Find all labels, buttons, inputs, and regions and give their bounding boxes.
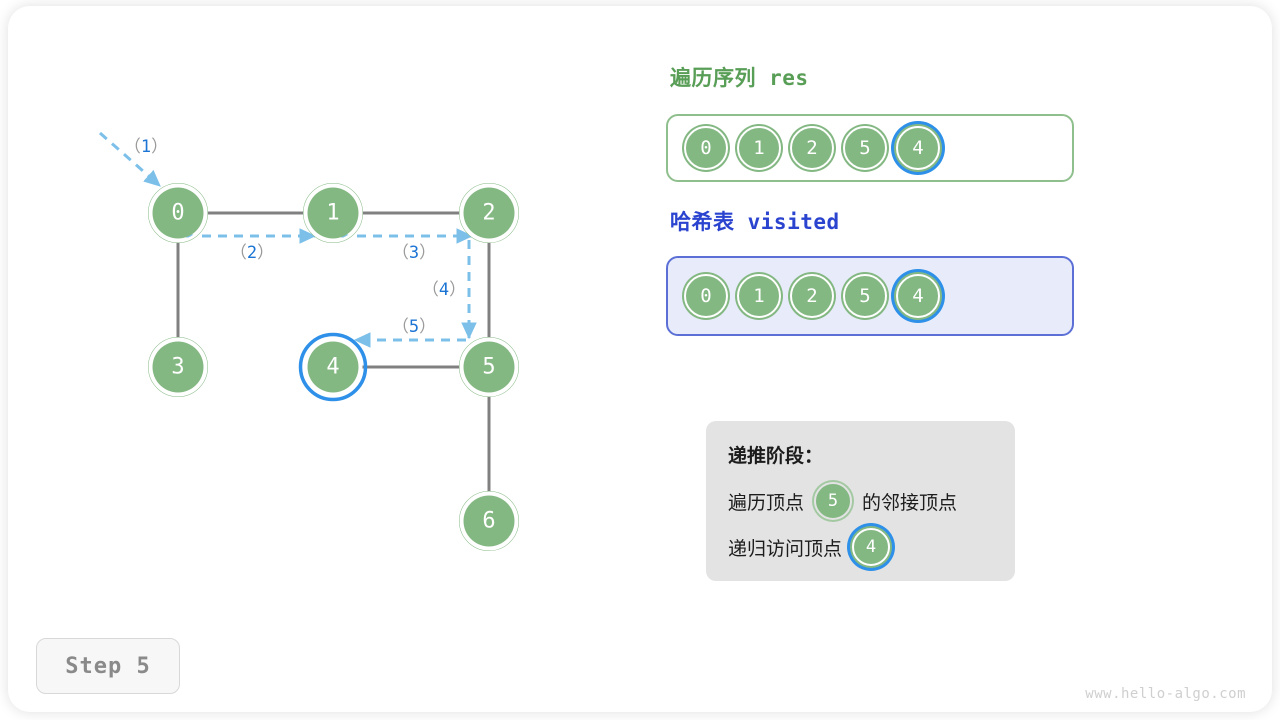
- graph-step-label-5: （5）: [392, 317, 436, 337]
- graph-svg: 0123456 （1）（2）（3）（4）（5）: [0, 0, 620, 620]
- res-item-label: 5: [843, 126, 887, 170]
- visited-container: 01254: [666, 256, 1074, 336]
- res-item-4: 4: [896, 126, 940, 170]
- explanation-node-5-label: 5: [814, 482, 852, 520]
- graph-step-label-4: （4）: [422, 280, 466, 300]
- explanation-line-2-before: 递归访问顶点: [728, 534, 842, 561]
- graph-node-5: 5: [460, 338, 518, 396]
- watermark: www.hello-algo.com: [1085, 686, 1246, 702]
- graph-node-6-label: 6: [482, 509, 495, 534]
- visited-item-label: 4: [896, 274, 940, 318]
- graph-node-3-label: 3: [171, 355, 184, 380]
- graph-node-2: 2: [460, 184, 518, 242]
- explanation-line-1-before: 遍历顶点: [728, 488, 804, 515]
- graph-step-label-1: （1）: [124, 137, 168, 157]
- graph-node-0-label: 0: [171, 201, 184, 226]
- step-badge-label: Step 5: [65, 654, 150, 679]
- explanation-line-2: 递归访问顶点 4: [728, 528, 1015, 566]
- res-container: 01254: [666, 114, 1074, 182]
- res-item-label: 4: [896, 126, 940, 170]
- explanation-box: 递推阶段： 遍历顶点 5 的邻接顶点 递归访问顶点 4: [706, 421, 1015, 581]
- res-item-label: 0: [684, 126, 728, 170]
- visited-item-5: 5: [843, 274, 887, 318]
- visited-item-0: 0: [684, 274, 728, 318]
- visited-item-label: 1: [737, 274, 781, 318]
- visited-item-label: 2: [790, 274, 834, 318]
- explanation-line-1-after: 的邻接顶点: [862, 488, 957, 515]
- step-badge: Step 5: [36, 638, 180, 694]
- graph-node-6: 6: [460, 492, 518, 550]
- graph-node-0: 0: [149, 184, 207, 242]
- visited-item-4: 4: [896, 274, 940, 318]
- graph-node-1: 1: [304, 184, 362, 242]
- graph-node-4: 4: [301, 335, 366, 400]
- graph-diagram: 0123456 （1）（2）（3）（4）（5）: [0, 0, 620, 620]
- explanation-node-4-label: 4: [852, 528, 890, 566]
- explanation-line-1: 遍历顶点 5 的邻接顶点: [728, 482, 1015, 520]
- graph-node-3: 3: [149, 338, 207, 396]
- graph-node-1-label: 1: [326, 201, 339, 226]
- visited-item-label: 5: [843, 274, 887, 318]
- visited-panel-title: 哈希表 visited: [670, 206, 840, 236]
- res-item-2: 2: [790, 126, 834, 170]
- graph-step-label-3: （3）: [392, 243, 436, 263]
- visited-item-2: 2: [790, 274, 834, 318]
- screenshot-canvas: 0123456 （1）（2）（3）（4）（5） 遍历序列 res 01254 哈…: [0, 0, 1280, 720]
- graph-traversal-arrow-layer: [100, 133, 472, 340]
- graph-node-layer: 0123456: [149, 184, 518, 550]
- res-item-5: 5: [843, 126, 887, 170]
- res-item-label: 2: [790, 126, 834, 170]
- res-item-label: 1: [737, 126, 781, 170]
- res-panel-title: 遍历序列 res: [670, 62, 809, 92]
- visited-item-label: 0: [684, 274, 728, 318]
- graph-node-4-label: 4: [326, 355, 339, 380]
- explanation-node-5: 5: [814, 482, 852, 520]
- graph-node-5-label: 5: [482, 355, 495, 380]
- explanation-node-4: 4: [852, 528, 890, 566]
- res-item-1: 1: [737, 126, 781, 170]
- graph-node-2-label: 2: [482, 201, 495, 226]
- explanation-heading: 递推阶段：: [728, 441, 1015, 468]
- res-item-0: 0: [684, 126, 728, 170]
- graph-step-label-2: （2）: [230, 243, 274, 263]
- visited-item-1: 1: [737, 274, 781, 318]
